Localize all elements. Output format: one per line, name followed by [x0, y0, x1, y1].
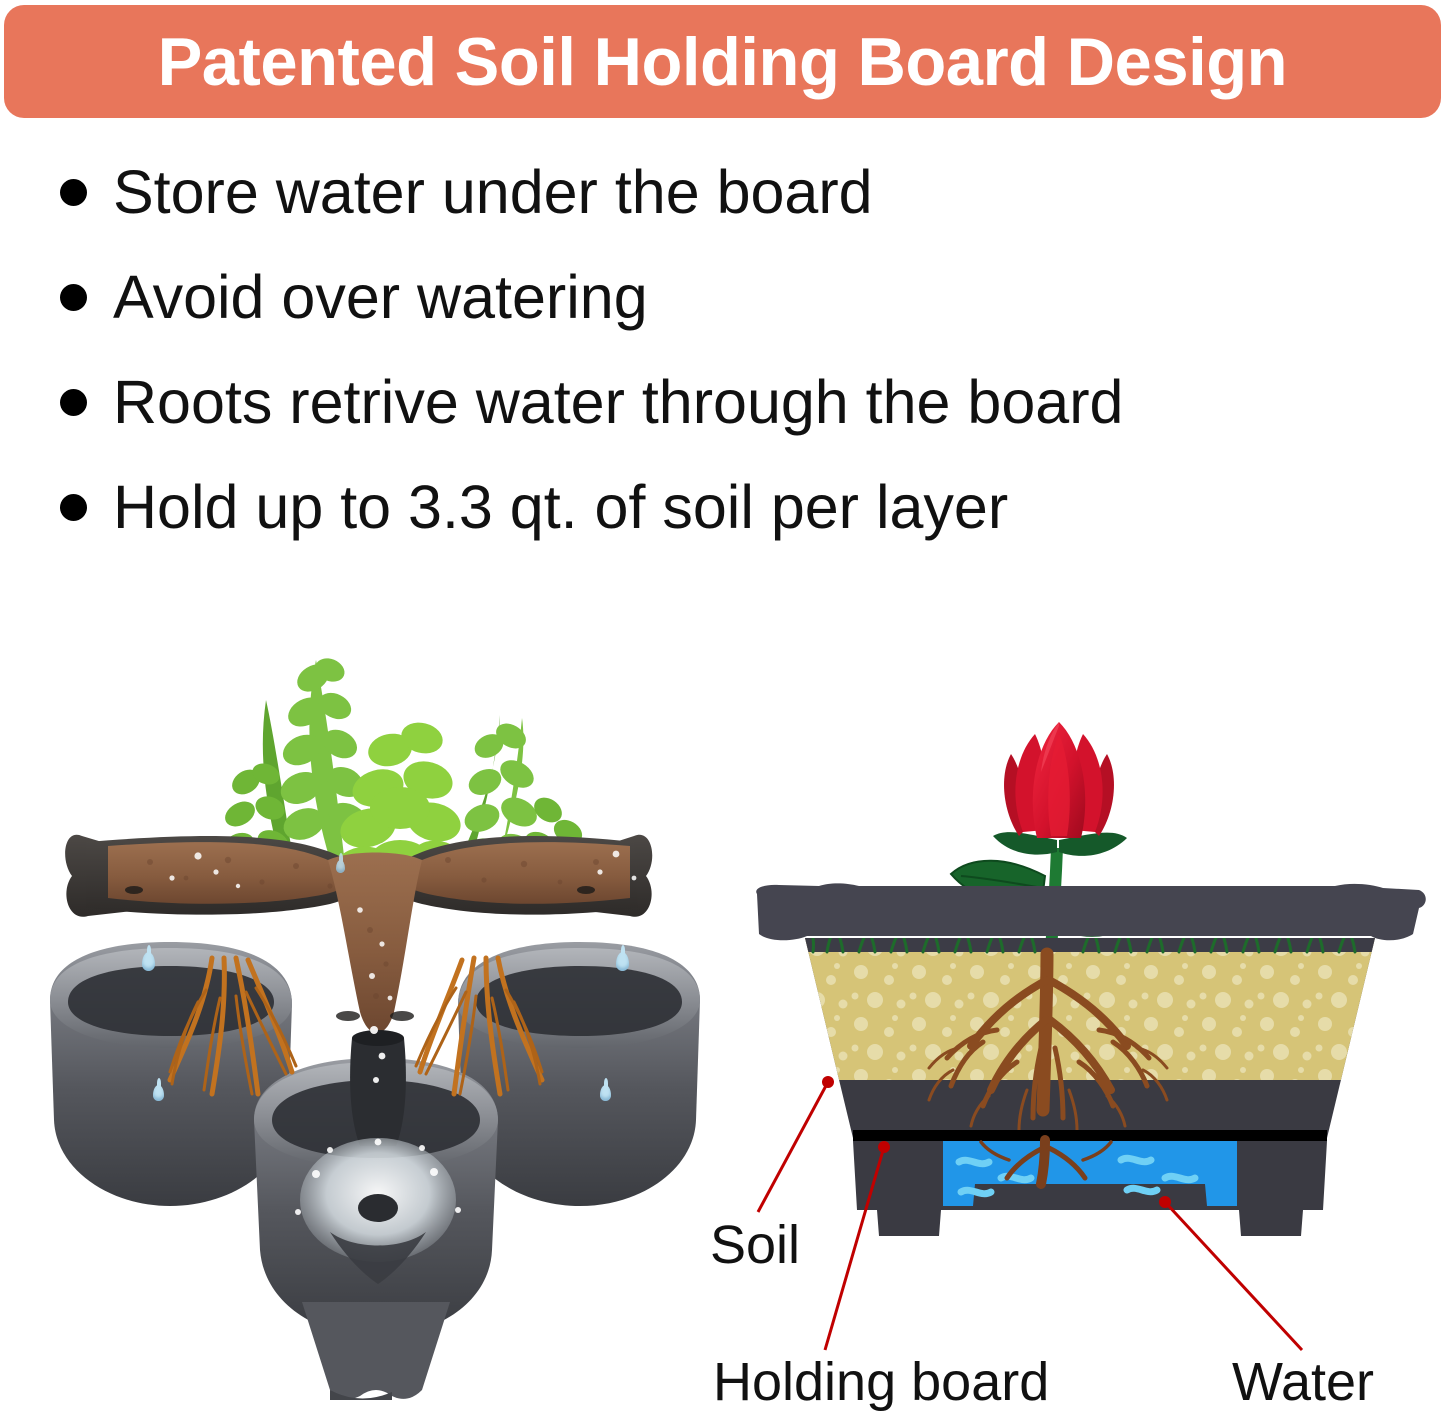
- bullet-label: Store water under the board: [113, 162, 873, 223]
- holding-board: [853, 1130, 1327, 1141]
- water-droplet-icon: [142, 952, 155, 971]
- water-droplet-icon: [153, 1085, 164, 1101]
- list-item: Avoid over watering: [0, 245, 1445, 350]
- bullet-dot-icon: [60, 494, 87, 521]
- cross-section-illustration: [735, 650, 1445, 1270]
- bullet-label: Avoid over watering: [113, 267, 648, 328]
- bullet-label: Roots retrive water through the board: [113, 372, 1123, 433]
- list-item: Store water under the board: [0, 140, 1445, 245]
- bullet-dot-icon: [60, 179, 87, 206]
- water-droplet-icon: [616, 952, 629, 971]
- list-item: Hold up to 3.3 qt. of soil per layer: [0, 455, 1445, 560]
- water-droplet-icon: [336, 860, 345, 873]
- diagram-label-holding-board: Holding board: [713, 1355, 1049, 1409]
- bullet-dot-icon: [60, 389, 87, 416]
- bullet-dot-icon: [60, 284, 87, 311]
- header-banner: Patented Soil Holding Board Design: [4, 5, 1441, 118]
- water-reservoir: [853, 1140, 1327, 1236]
- feature-bullet-list: Store water under the board Avoid over w…: [0, 140, 1445, 560]
- product-photo-illustration: [30, 560, 720, 1400]
- water-droplet-icon: [600, 1085, 611, 1101]
- product-photo-left: [30, 560, 720, 1400]
- pot-cross-section-diagram: [735, 650, 1445, 1270]
- diagram-label-soil: Soil: [710, 1218, 800, 1272]
- diagram-label-water: Water: [1232, 1355, 1374, 1409]
- bullet-label: Hold up to 3.3 qt. of soil per layer: [113, 477, 1008, 538]
- page-title: Patented Soil Holding Board Design: [158, 28, 1287, 96]
- list-item: Roots retrive water through the board: [0, 350, 1445, 455]
